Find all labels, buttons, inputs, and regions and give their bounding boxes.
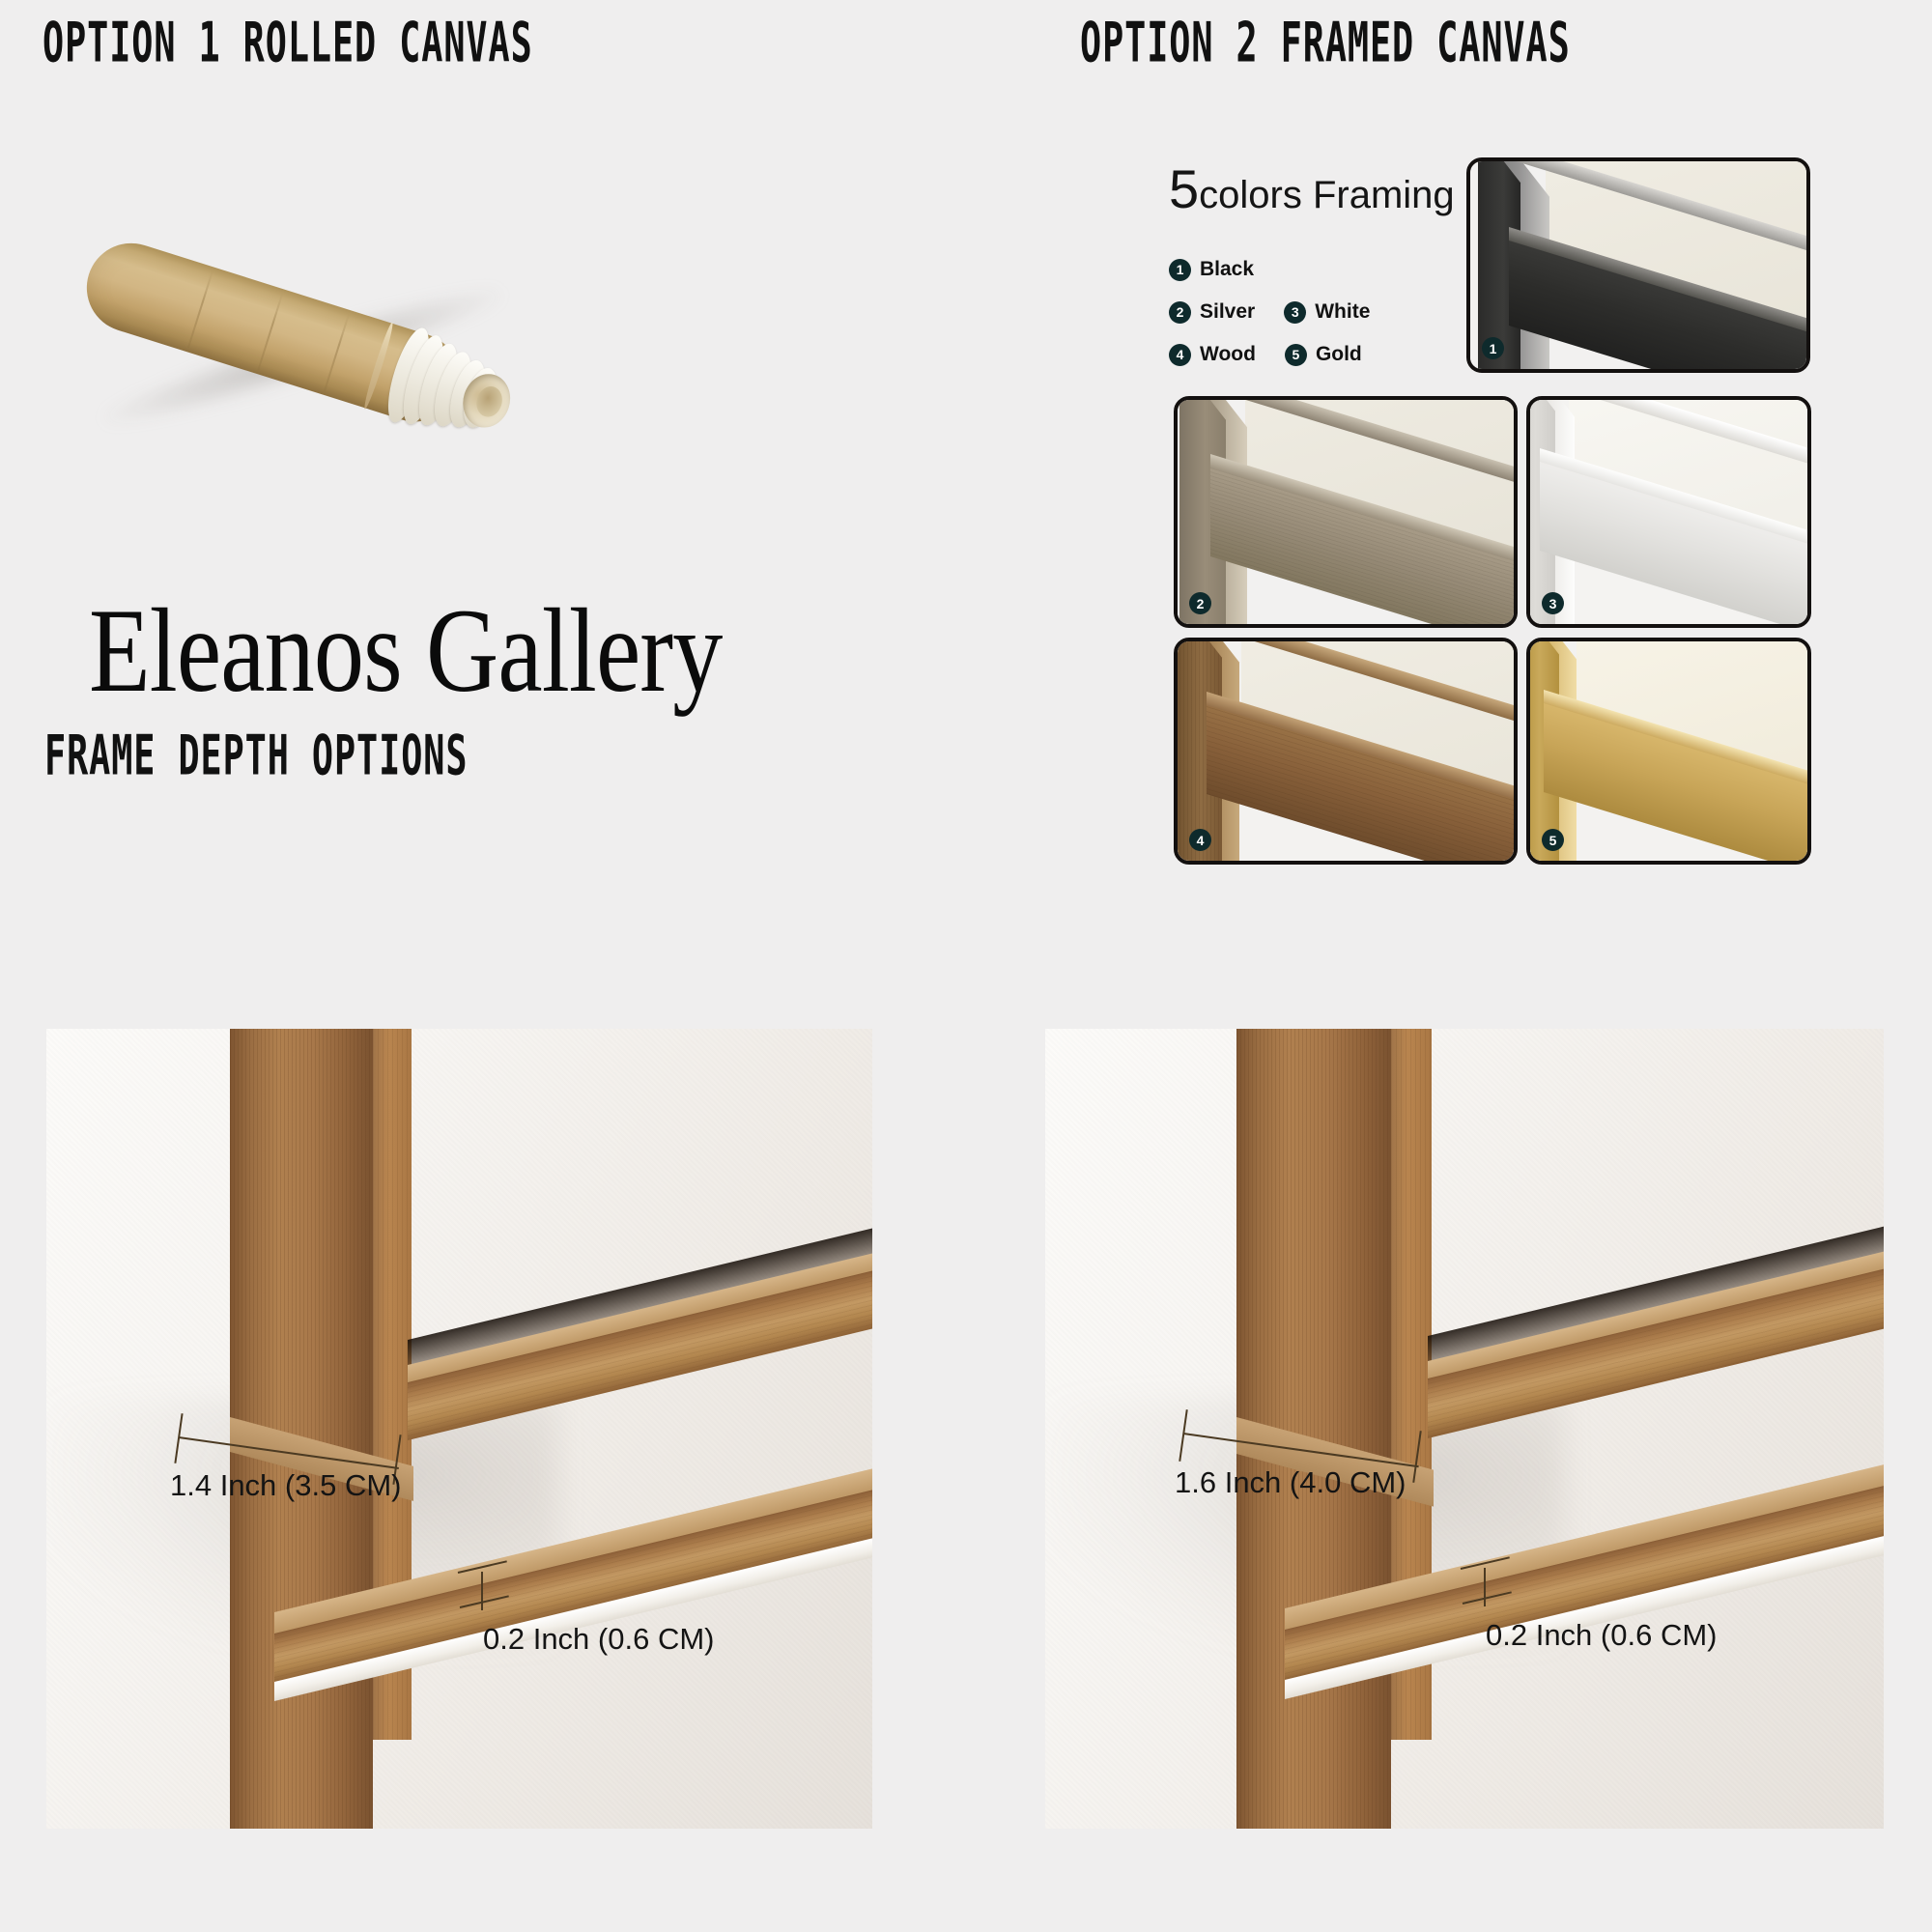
swatch-badge-icon: 3	[1542, 592, 1564, 614]
frame-depth-photo-left: 1.4 Inch (3.5 CM) 0.2 Inch (0.6 CM)	[46, 1029, 872, 1829]
legend-item-white[interactable]: 3 White	[1284, 300, 1370, 324]
frame-swatch-silver[interactable]: 2	[1174, 396, 1518, 628]
frame-corner-render	[1530, 641, 1807, 861]
legend-title: 5colors Framing	[1169, 162, 1488, 217]
badge-number-icon: 4	[1169, 344, 1191, 366]
thickness-measure-label: 0.2 Inch (0.6 CM)	[1486, 1618, 1717, 1653]
badge-number-icon: 1	[1169, 259, 1191, 281]
legend-list: 1 Black 2 Silver 3 White 4 Wood	[1169, 258, 1488, 366]
brand-wordmark: Eleanos Gallery	[89, 591, 722, 711]
frame-depth-photo-right: 1.6 Inch (4.0 CM) 0.2 Inch (0.6 CM)	[1045, 1029, 1884, 1829]
dim-tick-thickness	[481, 1572, 483, 1610]
heading-option-2: OPTION 2 FRAMED CANVAS	[1080, 12, 1571, 74]
heading-option-1: OPTION 1 ROLLED CANVAS	[43, 12, 533, 74]
legend-item-label: Gold	[1316, 343, 1362, 366]
depth-measure-label: 1.6 Inch (4.0 CM)	[1175, 1465, 1406, 1500]
legend-row: 4 Wood 5 Gold	[1169, 343, 1488, 366]
badge-number-icon: 2	[1169, 301, 1191, 324]
swatch-badge-icon: 2	[1189, 592, 1211, 614]
legend-row: 1 Black	[1169, 258, 1488, 281]
legend-item-label: White	[1315, 300, 1370, 324]
swatch-badge-icon: 1	[1482, 337, 1504, 359]
thickness-measure-label: 0.2 Inch (0.6 CM)	[483, 1622, 714, 1657]
legend-item-wood[interactable]: 4 Wood	[1169, 343, 1256, 366]
frame-swatch-wood[interactable]: 4	[1174, 638, 1518, 865]
legend-row: 2 Silver 3 White	[1169, 300, 1488, 324]
rolled-canvas-illustration	[68, 145, 609, 464]
legend-title-text: colors Framing	[1199, 174, 1455, 216]
frame-corner-render	[1470, 161, 1806, 369]
legend-item-label: Black	[1200, 258, 1254, 281]
legend-item-gold[interactable]: 5 Gold	[1285, 343, 1362, 366]
frame-swatch-black[interactable]: 1	[1466, 157, 1810, 373]
swatch-badge-icon: 5	[1542, 829, 1564, 851]
depth-measure-label: 1.4 Inch (3.5 CM)	[170, 1468, 401, 1503]
badge-number-icon: 5	[1285, 344, 1307, 366]
dim-tick-thickness	[1484, 1568, 1486, 1606]
badge-number-icon: 3	[1284, 301, 1306, 324]
heading-frame-depth: FRAME DEPTH OPTIONS	[44, 724, 468, 787]
frame-corner-render	[1178, 641, 1514, 861]
frame-corner-render	[1178, 400, 1514, 624]
legend-item-silver[interactable]: 2 Silver	[1169, 300, 1255, 324]
framing-colors-legend: 5colors Framing 1 Black 2 Silver 3 White	[1169, 162, 1488, 385]
frame-swatch-white[interactable]: 3	[1526, 396, 1811, 628]
legend-item-label: Wood	[1200, 343, 1256, 366]
swatch-badge-icon: 4	[1189, 829, 1211, 851]
frame-swatch-gold[interactable]: 5	[1526, 638, 1811, 865]
legend-item-black[interactable]: 1 Black	[1169, 258, 1254, 281]
legend-count: 5	[1169, 158, 1199, 219]
frame-corner-render	[1530, 400, 1807, 624]
legend-item-label: Silver	[1200, 300, 1255, 324]
infographic-canvas: OPTION 1 ROLLED CANVAS OPTION 2 FRAMED C…	[0, 0, 1932, 1932]
